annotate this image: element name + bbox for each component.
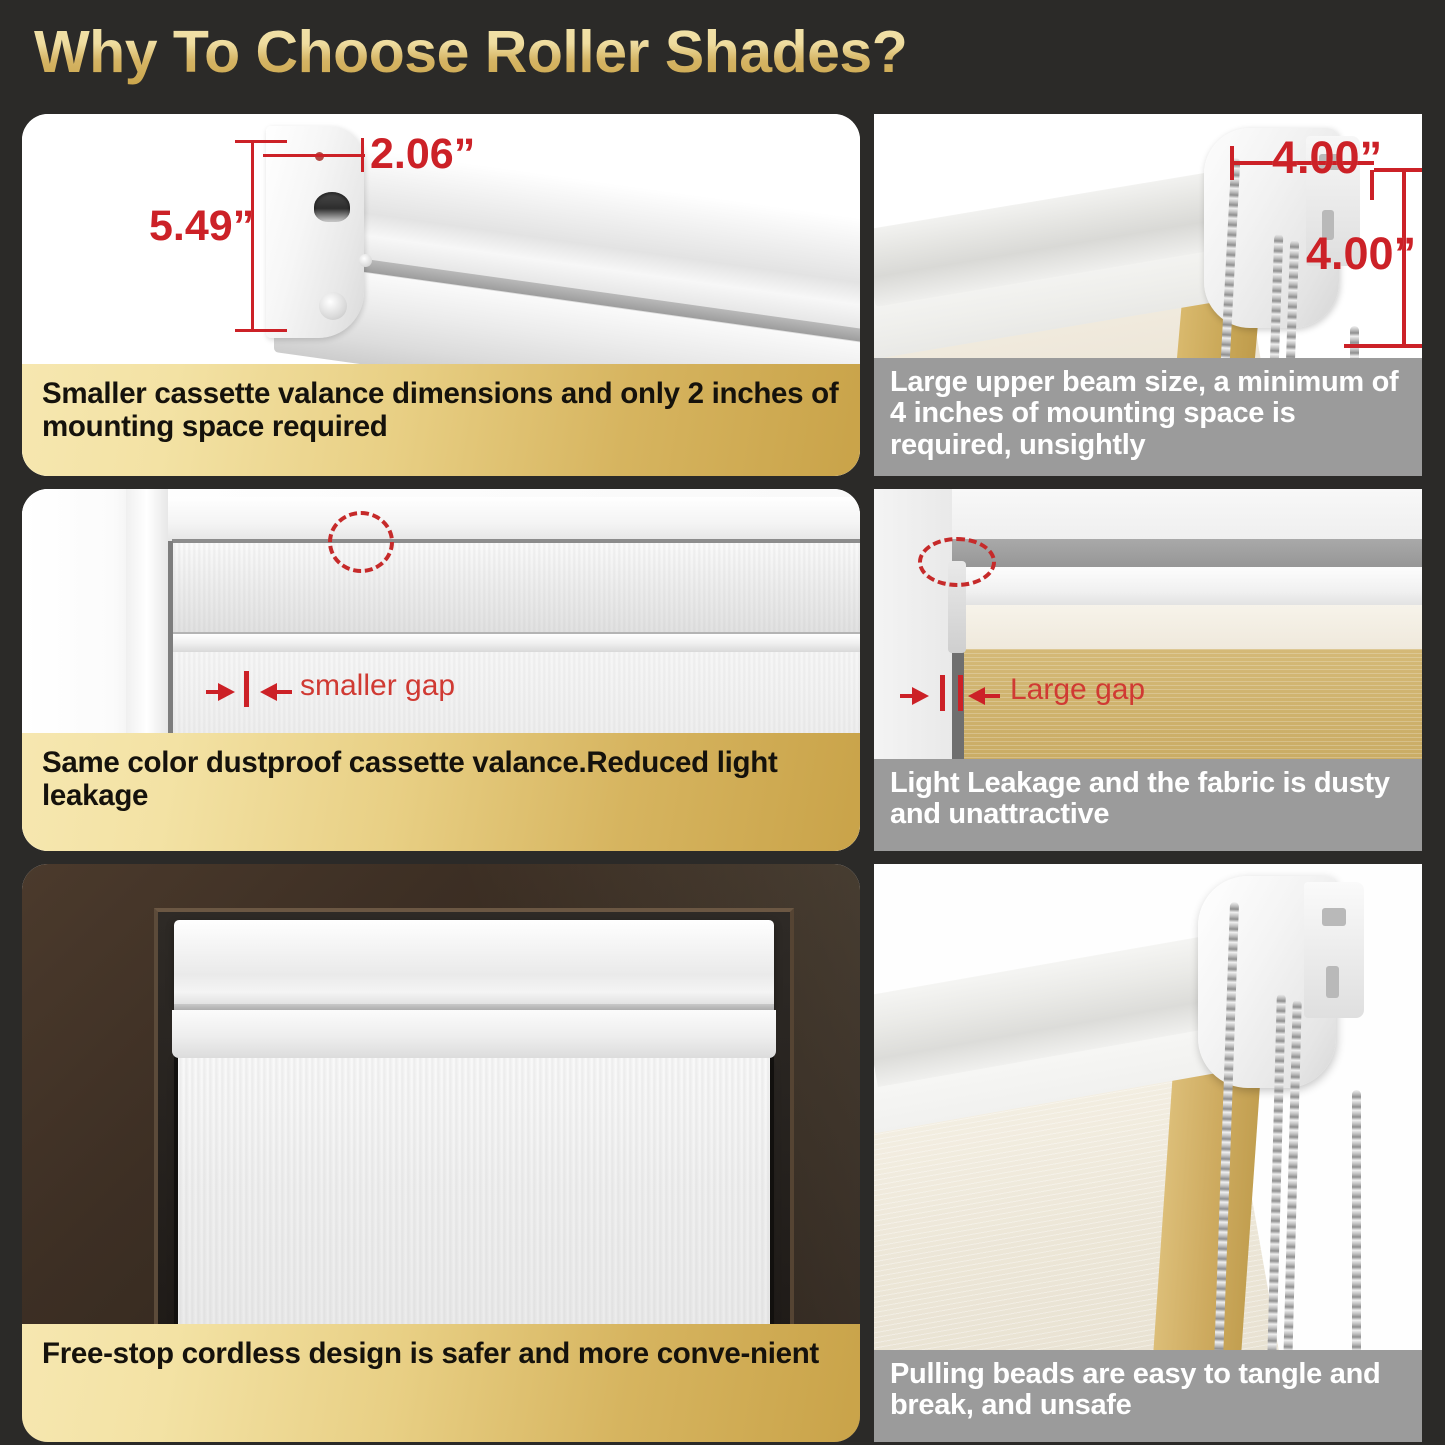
width-dimension-label: 2.06” bbox=[370, 130, 475, 179]
caption-cassette-dimensions: Smaller cassette valance dimensions and … bbox=[22, 364, 860, 476]
page-header: Why To Choose Roller Shades? bbox=[34, 16, 1034, 88]
height-dimension-label: 5.49” bbox=[149, 202, 254, 251]
gap-marker-bar bbox=[940, 675, 945, 711]
panel-dustproof-valance: smaller gap Same color dustproof cassett… bbox=[22, 489, 860, 851]
gap-arrow-left bbox=[218, 683, 235, 701]
gap-arrow-right bbox=[968, 687, 985, 705]
caption-pulling-beads: Pulling beads are easy to tangle and bre… bbox=[874, 1350, 1422, 1442]
gap-highlight-circle bbox=[328, 511, 394, 573]
width-dimension-line bbox=[263, 154, 365, 157]
comparison-grid: 5.49” 2.06” Smaller cassette valance dim… bbox=[0, 108, 1445, 1445]
beam-width-label: 4.00” bbox=[1272, 132, 1382, 184]
panel-pulling-beads: Pulling beads are easy to tangle and bre… bbox=[874, 864, 1422, 1442]
caption-dustproof-valance: Same color dustproof cassette valance.Re… bbox=[22, 733, 860, 851]
caption-light-leakage: Light Leakage and the fabric is dusty an… bbox=[874, 759, 1422, 851]
gap-arrow-left-stem bbox=[900, 694, 914, 698]
gap-marker-bar bbox=[244, 671, 249, 707]
gap-arrow-left bbox=[912, 687, 929, 705]
page-title: Why To Choose Roller Shades? bbox=[34, 16, 1034, 88]
panel-light-leakage: Large gap Light Leakage and the fabric i… bbox=[874, 489, 1422, 851]
large-gap-label: Large gap bbox=[1010, 673, 1145, 707]
beam-height-label: 4.00” bbox=[1306, 228, 1416, 280]
height-dimension-tick-top bbox=[235, 140, 287, 143]
caption-upper-beam-size: Large upper beam size, a minimum of 4 in… bbox=[874, 358, 1422, 476]
panel-cordless-design: Free-stop cordless design is safer and m… bbox=[22, 864, 860, 1442]
width-dimension-tick-right bbox=[361, 138, 364, 172]
smaller-gap-label: smaller gap bbox=[300, 669, 455, 703]
gap-arrow-left-stem bbox=[206, 690, 220, 694]
gap-arrow-right-stem bbox=[984, 694, 1000, 698]
bead-chain-4 bbox=[1352, 1090, 1361, 1364]
beam-height-tick-bottom bbox=[1344, 344, 1422, 348]
beam-width-tick-left bbox=[1230, 146, 1234, 180]
gap-arrow-right bbox=[260, 683, 277, 701]
height-dimension-tick-bottom bbox=[235, 329, 287, 332]
gap-arrow-right-stem bbox=[276, 690, 292, 694]
panel-upper-beam-size: 4.00” 4.00” Large upper beam size, a min… bbox=[874, 114, 1422, 476]
panel-cassette-dimensions: 5.49” 2.06” Smaller cassette valance dim… bbox=[22, 114, 860, 476]
caption-cordless-design: Free-stop cordless design is safer and m… bbox=[22, 1324, 860, 1442]
gap-marker-bar-2 bbox=[958, 675, 963, 711]
beam-height-tick-top bbox=[1374, 168, 1422, 172]
gap-highlight-circle bbox=[918, 537, 996, 587]
